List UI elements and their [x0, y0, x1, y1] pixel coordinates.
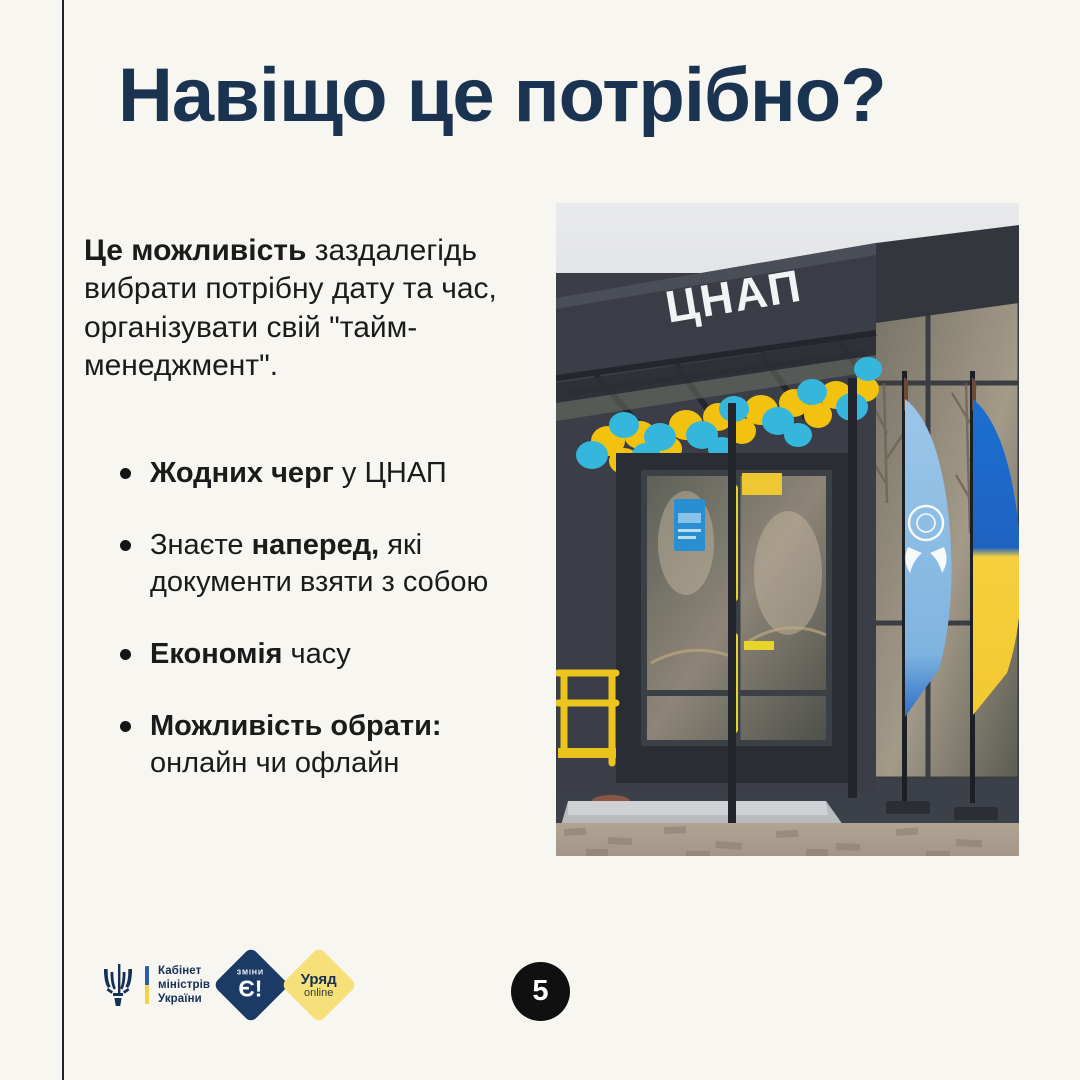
left-edge-rule — [62, 0, 64, 1080]
page-title: Навіщо це потрібно? — [118, 52, 886, 139]
kmu-line-2: міністрів — [158, 978, 210, 992]
bullet-bold: наперед, — [252, 529, 380, 561]
benefits-list: Жодних черг у ЦНАП Знаєте наперед, які д… — [110, 455, 540, 817]
zminy-ye-logo: ЗМІНИ Є! — [213, 947, 289, 1023]
trident-icon — [100, 962, 136, 1008]
zminy-main-label: Є! — [237, 978, 264, 1001]
info-sign — [674, 499, 705, 551]
kmu-line-3: України — [158, 992, 210, 1006]
kmu-label: Кабінет міністрів України — [158, 964, 210, 1006]
kmu-line-1: Кабінет — [158, 964, 210, 978]
online-label: online — [301, 988, 337, 999]
flag-divider-bar — [145, 966, 149, 1004]
cnap-building-photo: ЦНАП — [556, 203, 1019, 856]
cabinet-of-ministers-logo: Кабінет міністрів України — [100, 962, 210, 1008]
bullet-rest: у ЦНАП — [334, 457, 447, 489]
lead-bold: Це можливість — [84, 234, 306, 267]
bullet-rest: часу — [282, 638, 350, 670]
bullet-rest: онлайн чи офлайн — [150, 747, 399, 779]
page-number-badge: 5 — [511, 962, 570, 1021]
list-item: Можливість обрати: онлайн чи офлайн — [110, 708, 540, 783]
bullet-bold: Можливість обрати: — [150, 710, 442, 742]
list-item: Економія часу — [110, 636, 540, 674]
bullet-bold: Економія — [150, 638, 282, 670]
bullet-prefix: Знаєте — [150, 529, 252, 561]
lead-paragraph: Це можливість заздалегідь вибрати потріб… — [84, 232, 514, 386]
uryad-online-logo: Уряд online — [281, 947, 357, 1023]
bullet-bold: Жодних черг — [150, 457, 334, 489]
list-item: Жодних черг у ЦНАП — [110, 455, 540, 493]
uryad-label: Уряд — [301, 972, 337, 987]
footer-logos: Кабінет міністрів України ЗМІНИ Є! Уряд … — [100, 958, 346, 1012]
list-item: Знаєте наперед, які документи взяти з со… — [110, 527, 540, 602]
photo-illustration: ЦНАП — [556, 203, 1019, 856]
